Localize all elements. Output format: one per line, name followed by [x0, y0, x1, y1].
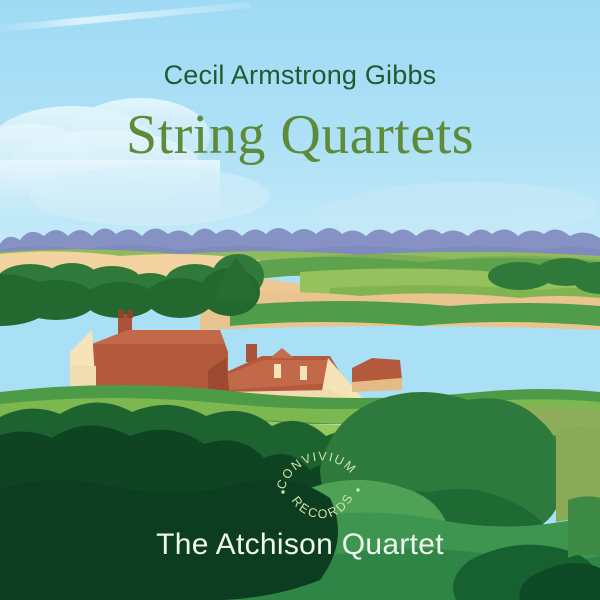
outbuilding-right: [352, 358, 402, 392]
tree-mass-bottom-left: [0, 479, 338, 600]
album-cover: Cecil Armstrong Gibbs String Quartets Th…: [0, 0, 600, 600]
landscape-illustration: [0, 0, 600, 600]
cloud-left-soft: [30, 166, 270, 226]
field-column-right-2: [568, 496, 600, 558]
hedgerow-strip-2: [230, 301, 600, 326]
